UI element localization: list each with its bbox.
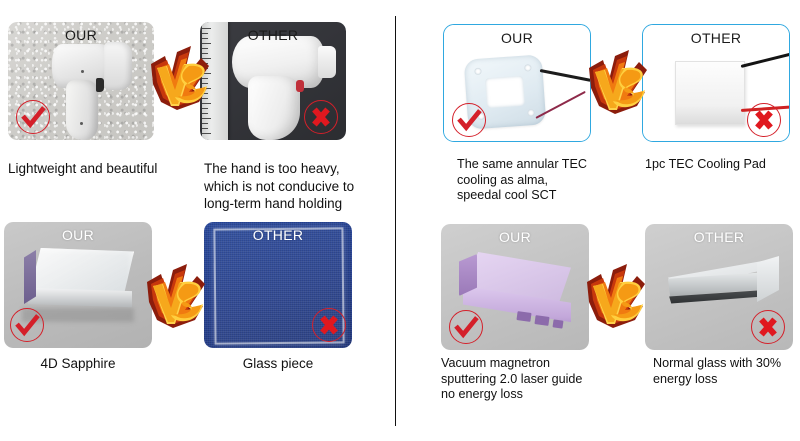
cross-mark-icon	[751, 310, 785, 344]
check-mark-icon	[449, 310, 483, 344]
cross-mark-icon	[304, 100, 338, 134]
check-mark-icon	[16, 100, 50, 134]
comparison-block-laser-guide: OUR	[405, 220, 800, 441]
our-caption-sapphire: 4D Sapphire	[8, 355, 148, 373]
our-caption-laser-guide: Vacuum magnetron sputtering 2.0 laser gu…	[441, 356, 621, 403]
vertical-divider	[395, 16, 396, 426]
our-image-card-handpiece[interactable]: OUR	[8, 22, 154, 140]
other-caption-normal-glass: Normal glass with 30% energy loss	[653, 356, 800, 387]
comparison-block-handpiece: OUR	[0, 0, 390, 220]
our-image-card-tec[interactable]: OUR	[443, 24, 591, 142]
our-caption-tec: The same annular TEC cooling as alma, sp…	[457, 157, 617, 204]
comparison-block-sapphire: OUR OTHER	[0, 220, 390, 441]
vs-flame-icon	[583, 258, 651, 336]
comparison-block-tec-cooling: OUR OTHER	[405, 0, 800, 220]
other-image-card-normal-glass[interactable]: OTHER	[645, 224, 793, 350]
other-caption-tec: 1pc TEC Cooling Pad	[645, 157, 800, 173]
our-image-card-laser-guide[interactable]: OUR	[441, 224, 589, 350]
vs-flame-icon	[143, 258, 211, 336]
other-image-card-tec[interactable]: OTHER	[642, 24, 790, 142]
our-caption-handpiece: Lightweight and beautiful	[8, 160, 188, 178]
cross-mark-icon	[747, 103, 781, 137]
check-mark-icon	[10, 308, 44, 342]
other-image-card-handpiece[interactable]: OTHER	[200, 22, 346, 140]
check-mark-icon	[452, 103, 486, 137]
cross-mark-icon	[312, 308, 346, 342]
other-caption-handpiece: The hand is too heavy, which is not cond…	[204, 160, 384, 213]
our-image-card-sapphire[interactable]: OUR	[4, 222, 152, 348]
comparison-infographic: OUR	[0, 0, 800, 441]
other-image-card-glass[interactable]: OTHER	[204, 222, 352, 348]
other-caption-glass: Glass piece	[206, 355, 350, 373]
